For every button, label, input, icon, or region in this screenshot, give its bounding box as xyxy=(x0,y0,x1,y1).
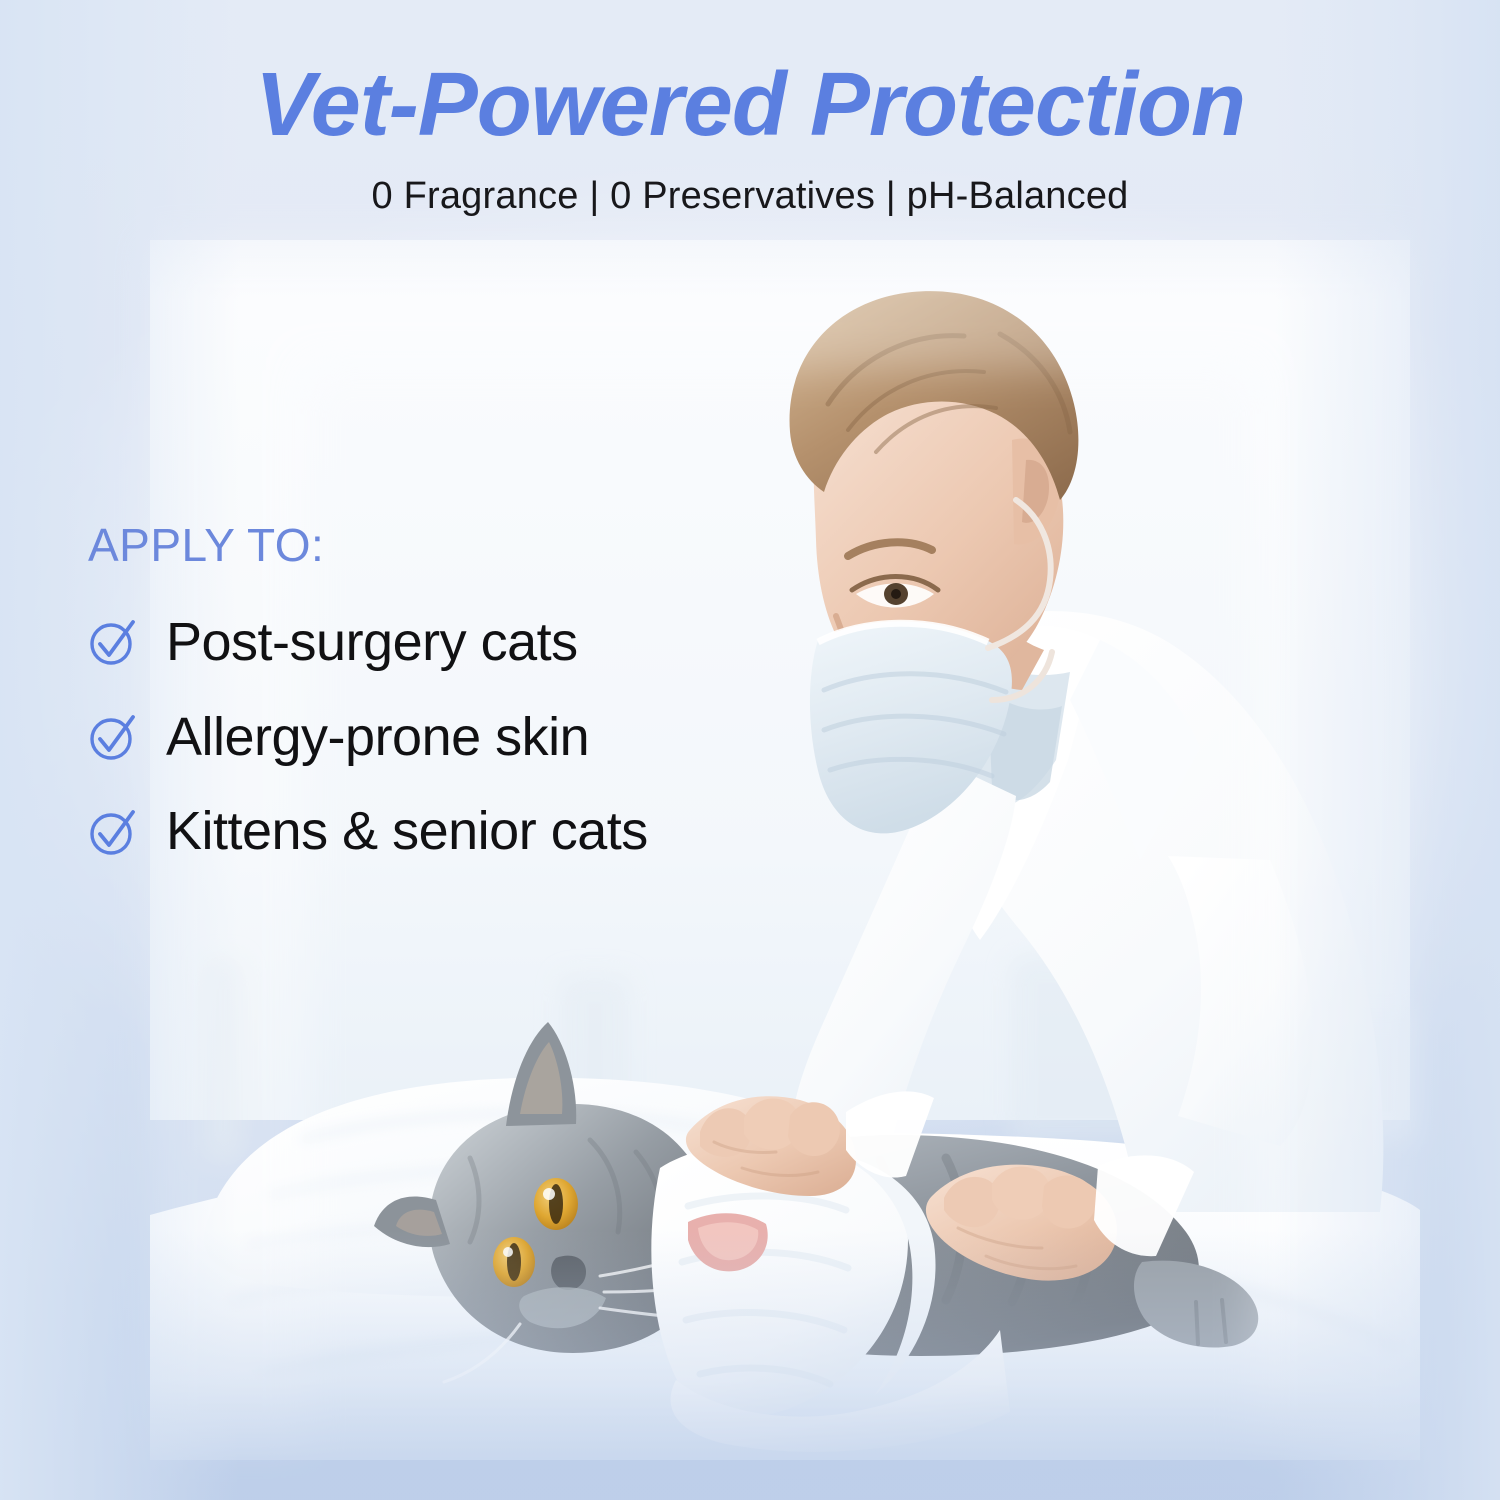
check-circle-icon xyxy=(88,616,140,668)
list-item-label: Allergy-prone skin xyxy=(166,709,589,766)
apply-to-heading: APPLY TO: xyxy=(88,518,648,572)
list-item: Post-surgery cats xyxy=(88,614,648,671)
apply-to-section: APPLY TO: Post-surgery cats Allergy-pron… xyxy=(88,518,648,860)
header: Vet-Powered Protection 0 Fragrance | 0 P… xyxy=(0,58,1500,218)
page-subtitle: 0 Fragrance | 0 Preservatives | pH-Balan… xyxy=(0,175,1500,218)
check-circle-icon xyxy=(88,806,140,858)
check-circle-icon xyxy=(88,711,140,763)
page-title: Vet-Powered Protection xyxy=(0,58,1500,153)
list-item: Allergy-prone skin xyxy=(88,709,648,766)
list-item: Kittens & senior cats xyxy=(88,803,648,860)
promo-banner: Vet-Powered Protection 0 Fragrance | 0 P… xyxy=(0,0,1500,1500)
list-item-label: Post-surgery cats xyxy=(166,614,578,671)
list-item-label: Kittens & senior cats xyxy=(166,803,648,860)
